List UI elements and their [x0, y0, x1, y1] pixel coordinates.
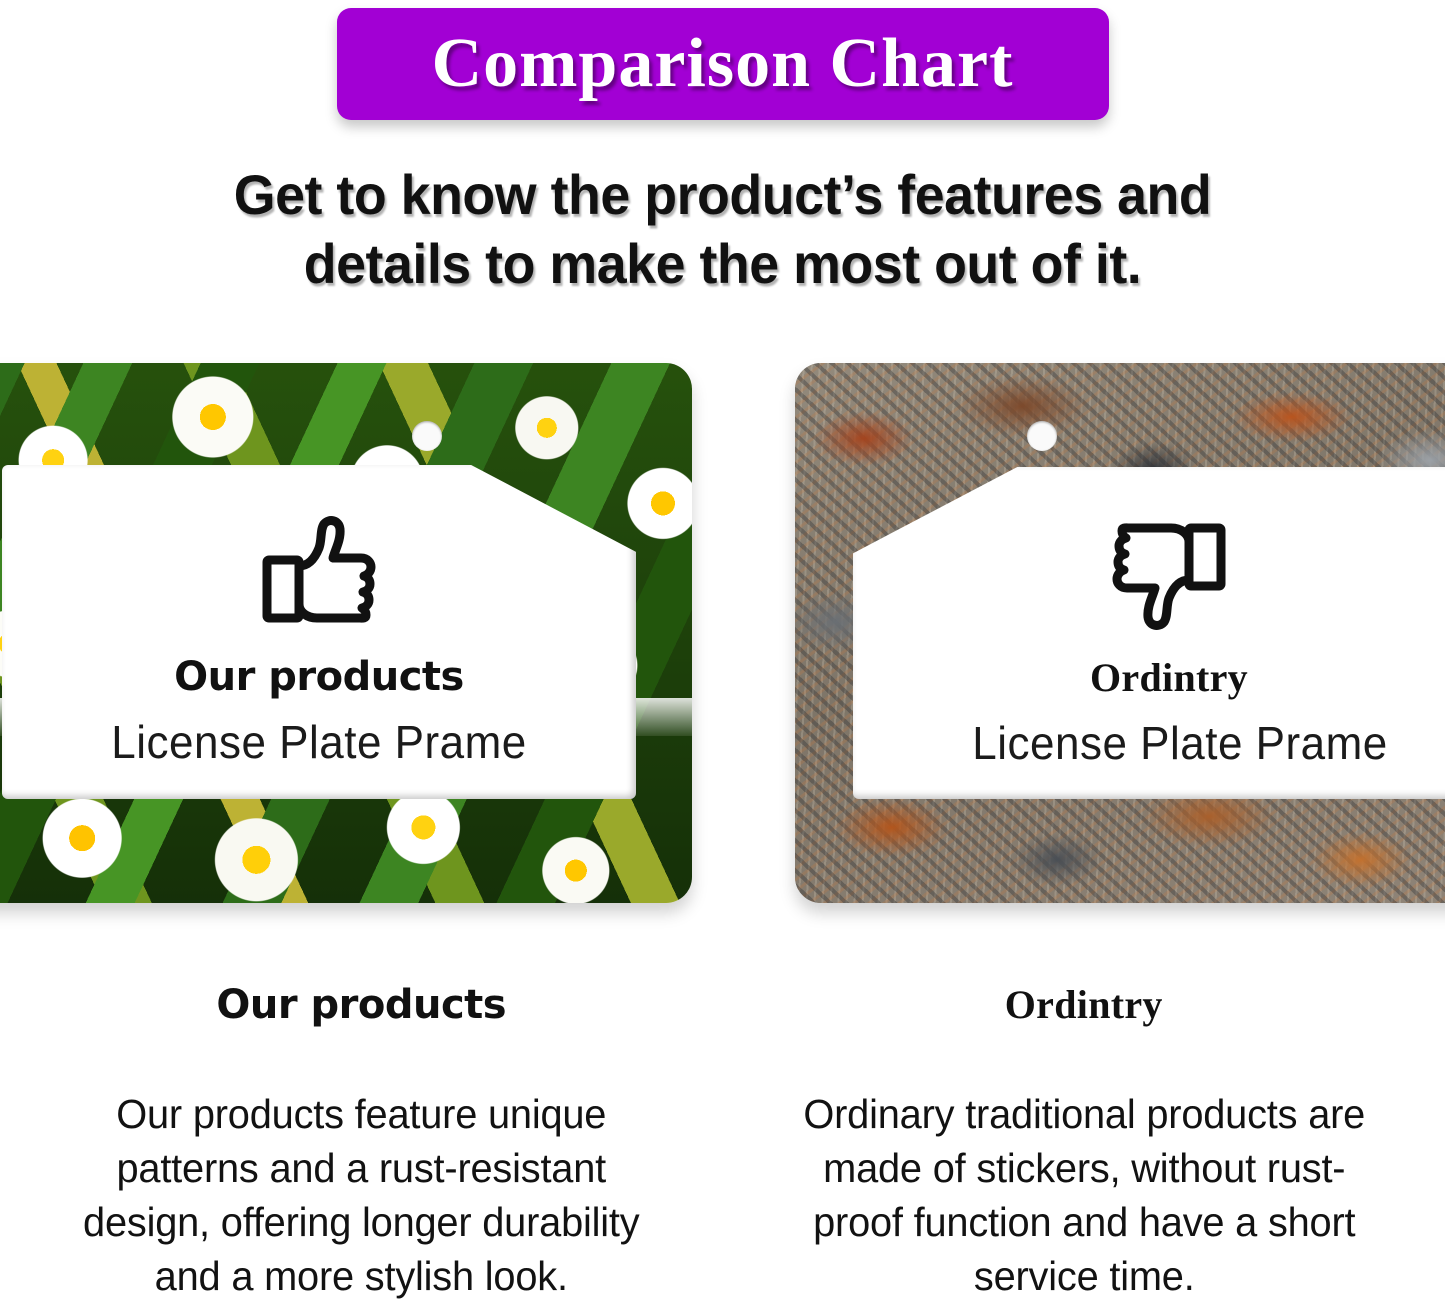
description-column-ours: Our products Our products feature unique…: [0, 985, 723, 1315]
plate-content-ours: Our products License Plate Prame: [2, 465, 636, 799]
plate-subheading-ours: License Plate Prame: [111, 719, 527, 766]
plate-content-ordinary: Ordintry License Plate Prame: [853, 467, 1445, 799]
frames-row: Our products License Plate Prame Ordintr…: [0, 355, 1445, 915]
mounting-hole: [1027, 421, 1057, 451]
thumbs-down-icon: [1111, 515, 1227, 632]
title-banner-wrapper: Comparison Chart: [0, 8, 1445, 120]
column-body-ours: Our products feature unique patterns and…: [67, 1087, 655, 1303]
thumbs-up-icon: [261, 514, 377, 631]
subtitle: Get to know the product’s features and d…: [29, 160, 1416, 299]
subtitle-line-1: Get to know the product’s features and: [29, 160, 1416, 229]
title-banner: Comparison Chart: [337, 8, 1109, 120]
subtitle-line-2: details to make the most out of it.: [29, 229, 1416, 298]
page-title: Comparison Chart: [432, 29, 1014, 99]
description-column-ordinary: Ordintry Ordinary traditional products a…: [723, 985, 1445, 1315]
plate-subheading-ordinary: License Plate Prame: [972, 720, 1388, 767]
plate-heading-ours: Our products: [174, 657, 464, 697]
column-heading-ordinary: Ordintry: [775, 985, 1394, 1025]
product-frame-ordinary: Ordintry License Plate Prame: [795, 363, 1445, 903]
column-body-ordinary: Ordinary traditional products are made o…: [784, 1087, 1384, 1303]
plate-heading-ordinary: Ordintry: [1090, 658, 1248, 698]
column-heading-ours: Our products: [58, 985, 665, 1025]
mounting-hole: [412, 421, 442, 451]
product-frame-ours: Our products License Plate Prame: [0, 363, 692, 903]
description-columns: Our products Our products feature unique…: [0, 985, 1445, 1315]
